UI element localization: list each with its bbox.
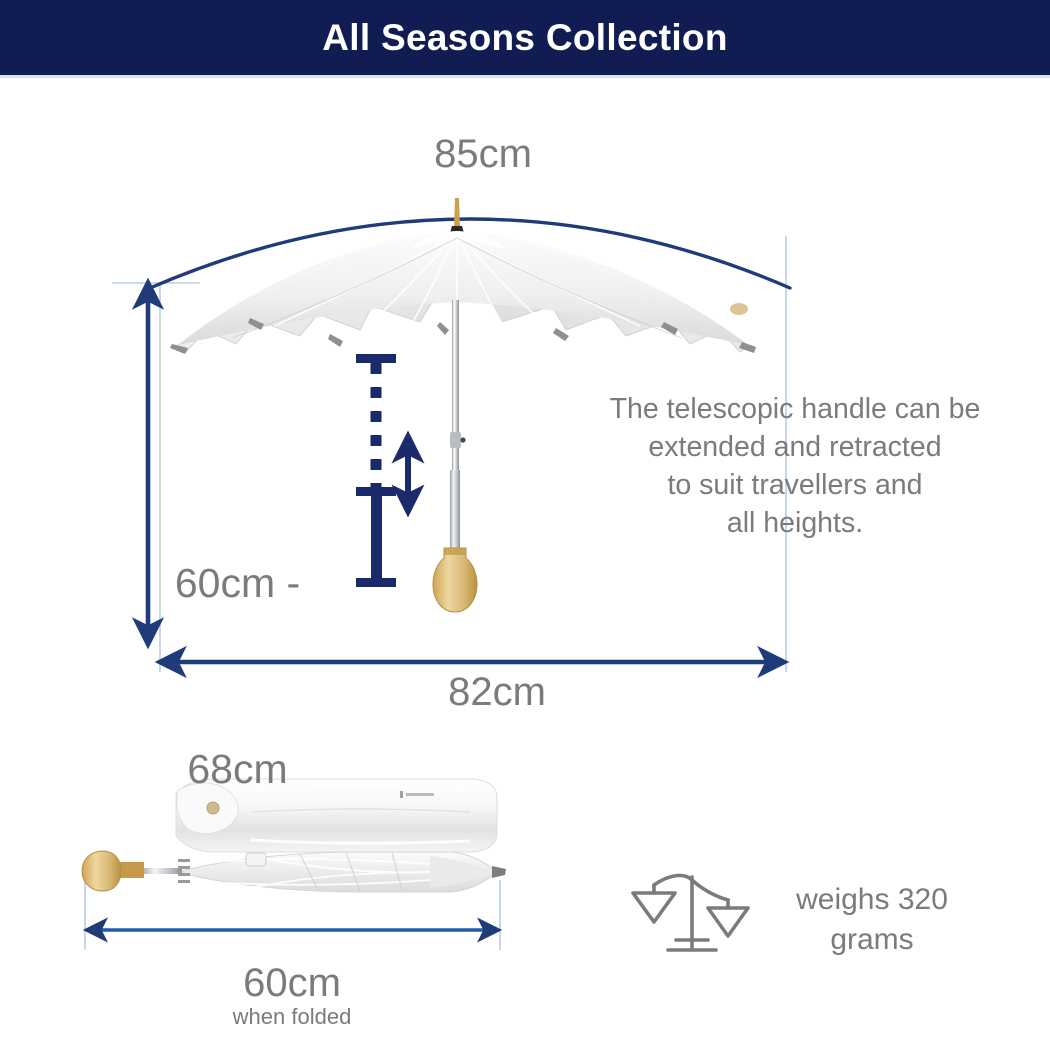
description-line-3: to suit travellers and	[545, 466, 1045, 504]
folded-length-label: 60cm	[192, 960, 392, 1006]
canopy-width-label: 82cm	[397, 668, 597, 716]
height-range-line2: 68cm	[140, 738, 335, 800]
weight-line-1: weighs 320	[752, 880, 992, 920]
folded-length-caption: when folded	[192, 1004, 392, 1030]
weight-line-2: grams	[752, 920, 992, 960]
canopy-span-label: 85cm	[383, 130, 583, 178]
description-line-2: extended and retracted	[545, 428, 1045, 466]
telescopic-description: The telescopic handle can be extended an…	[545, 390, 1045, 542]
balance-scale-icon	[633, 875, 748, 950]
height-range-label: 60cm - 68cm	[140, 428, 335, 924]
telescopic-indicator	[356, 354, 408, 587]
weight-label: weighs 320 grams	[752, 880, 992, 960]
description-line-4: all heights.	[545, 504, 1045, 542]
height-range-line1: 60cm -	[140, 552, 335, 614]
description-line-1: The telescopic handle can be	[545, 390, 1045, 428]
infographic-canvas: All Seasons Collection	[0, 0, 1050, 1050]
